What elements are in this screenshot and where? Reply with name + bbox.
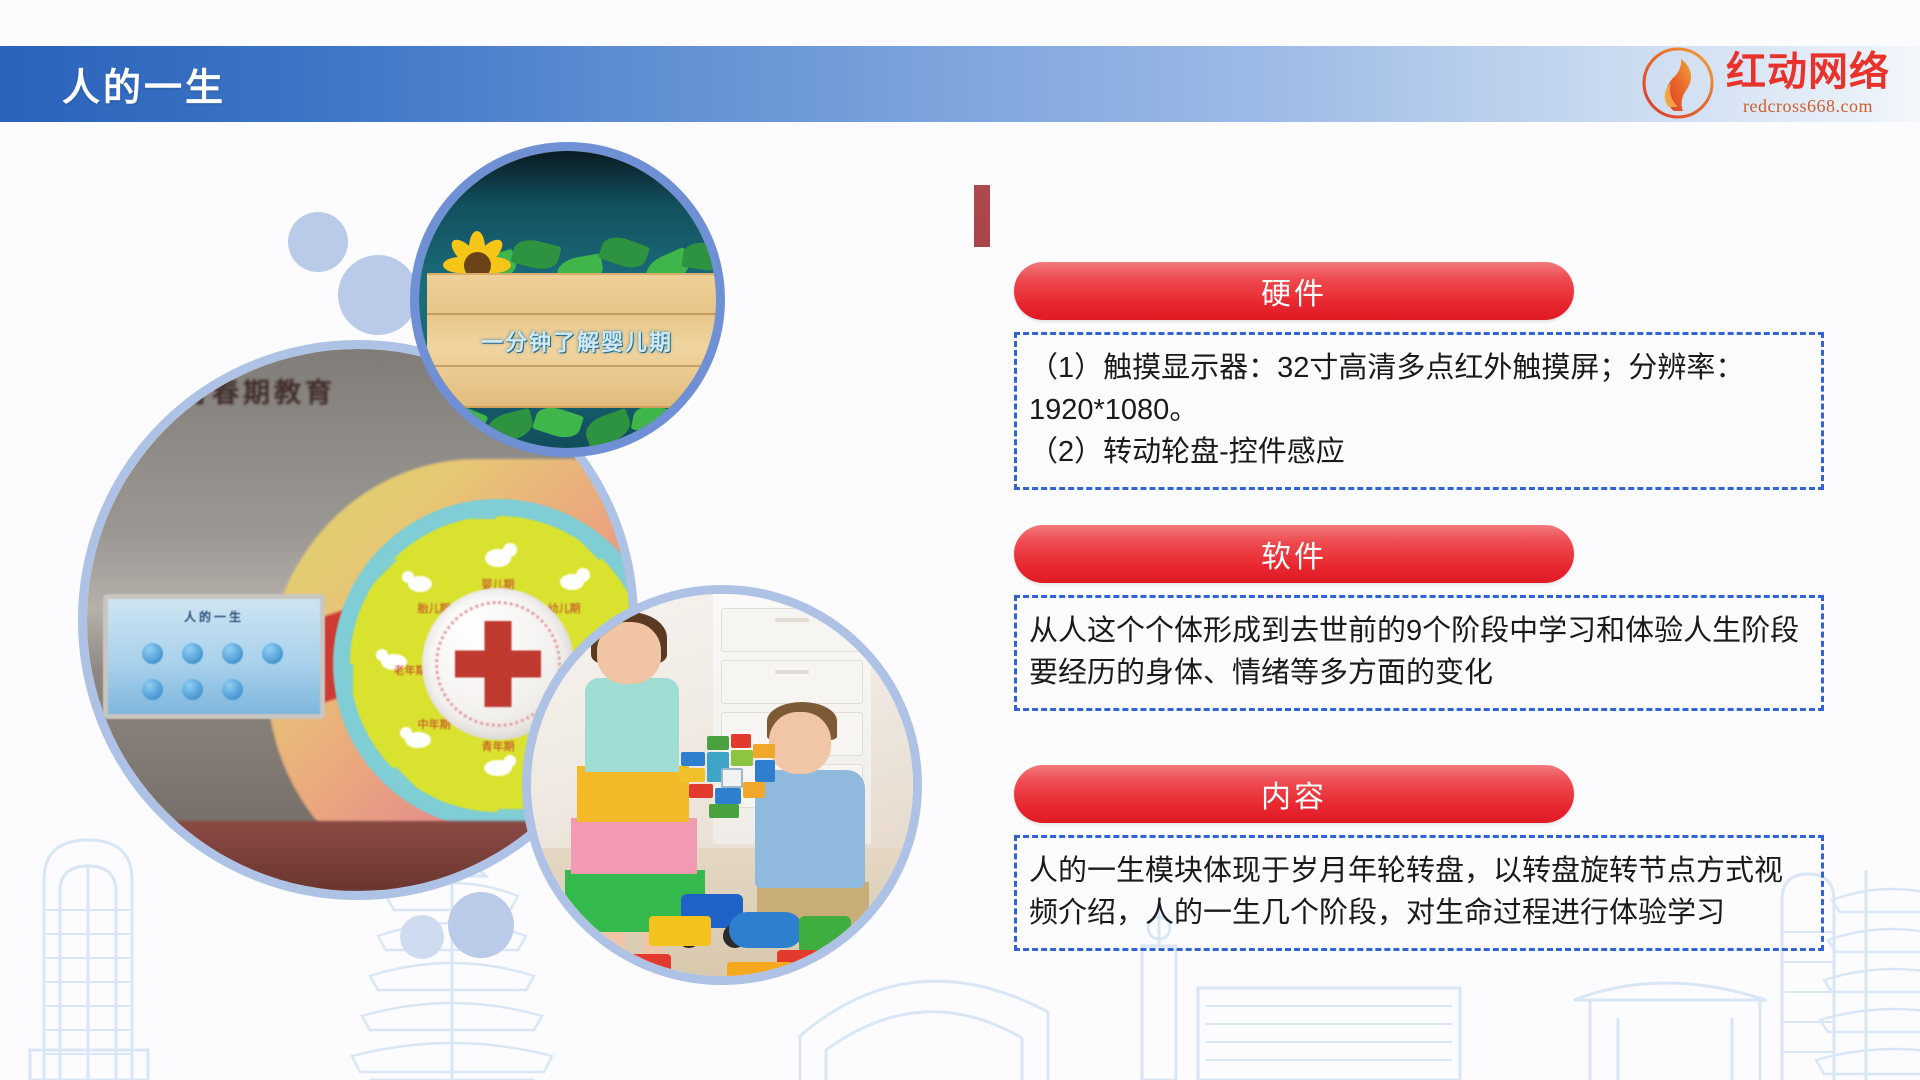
flame-circle-emblem-icon (1640, 45, 1716, 121)
section-hardware: 硬件 （1）触摸显示器：32寸高清多点红外触摸屏；分辨率：1920*1080。 … (1014, 262, 1574, 490)
kiosk-button (262, 643, 283, 664)
girl-dress-yellow (577, 766, 689, 822)
kiosk-button (222, 679, 243, 700)
section-software-line-1: 从人这个个体形成到去世前的9个阶段中学习和体验人生阶段要经历的身体、情绪等多方面… (1029, 610, 1811, 694)
section-content-line-1: 人的一生模块体现于岁月年轮转盘，以转盘旋转节点方式视频介绍，人的一生几个阶段，对… (1029, 850, 1811, 934)
red-cross-emblem-bar (455, 651, 541, 678)
building-blocks-heart (677, 730, 781, 824)
kiosk-screen-title: 人的一生 (108, 608, 320, 625)
touchscreen-kiosk: 人的一生 (103, 594, 325, 719)
wooden-sign-board: 一分钟了解婴儿期 (427, 273, 725, 408)
decorative-dot-3 (400, 915, 444, 959)
girl-leg (605, 930, 625, 985)
toy-block-orange (727, 962, 793, 985)
girl-head (597, 622, 661, 684)
toy-cylinder-blue (729, 912, 803, 948)
girl-dress-top (585, 678, 679, 772)
section-hardware-body: （1）触摸显示器：32寸高清多点红外触摸屏；分辨率：1920*1080。 （2）… (1014, 332, 1824, 490)
decorative-dot-4 (448, 892, 514, 958)
children-playing-blocks-photo (522, 585, 922, 985)
section-software-pill[interactable]: 软件 (1014, 525, 1574, 583)
sign-board-text: 一分钟了解婴儿期 (427, 325, 725, 357)
page-title: 人的一生 (62, 57, 226, 112)
decorative-dot-2 (338, 255, 418, 335)
slide-canvas: 人的一生 红动网络 redcross668.com 青春期教育 (0, 0, 1920, 1080)
section-hardware-line-2: （2）转动轮盘-控件感应 (1029, 431, 1811, 473)
logo-name: 红动网络 (1726, 52, 1890, 92)
section-content: 内容 人的一生模块体现于岁月年轮转盘，以转盘旋转节点方式视频介绍，人的一生几个阶… (1014, 765, 1574, 951)
kiosk-button (222, 643, 243, 664)
section-content-body: 人的一生模块体现于岁月年轮转盘，以转盘旋转节点方式视频介绍，人的一生几个阶段，对… (1014, 835, 1824, 951)
wall-signage-text: 青春期教育 (181, 371, 336, 410)
section-content-pill[interactable]: 内容 (1014, 765, 1574, 823)
section-software-label: 软件 (1261, 532, 1327, 576)
kiosk-button (182, 643, 203, 664)
svg-text:青年期: 青年期 (482, 739, 515, 753)
section-hardware-label: 硬件 (1261, 269, 1327, 313)
logo-url: redcross668.com (1743, 97, 1873, 115)
kiosk-button (142, 679, 163, 700)
kiosk-button (142, 643, 163, 664)
brand-logo: 红动网络 redcross668.com (1640, 42, 1890, 124)
section-accent-bar (974, 185, 990, 247)
toy-block-yellow (649, 916, 711, 946)
decorative-dot-1 (288, 212, 348, 272)
section-hardware-pill[interactable]: 硬件 (1014, 262, 1574, 320)
girl-dress-pink (571, 818, 697, 874)
section-software-body: 从人这个个体形成到去世前的9个阶段中学习和体验人生阶段要经历的身体、情绪等多方面… (1014, 595, 1824, 711)
kiosk-button (182, 679, 203, 700)
header-bar: 人的一生 (0, 46, 1920, 122)
toy-block-green (799, 916, 851, 954)
section-hardware-line-1: （1）触摸显示器：32寸高清多点红外触摸屏；分辨率：1920*1080。 (1029, 347, 1811, 431)
toy-block-red (627, 954, 671, 982)
section-content-label: 内容 (1261, 772, 1327, 816)
section-software: 软件 从人这个个体形成到去世前的9个阶段中学习和体验人生阶段要经历的身体、情绪等… (1014, 525, 1574, 711)
infant-period-video-thumbnail: 一分钟了解婴儿期 (410, 142, 725, 457)
